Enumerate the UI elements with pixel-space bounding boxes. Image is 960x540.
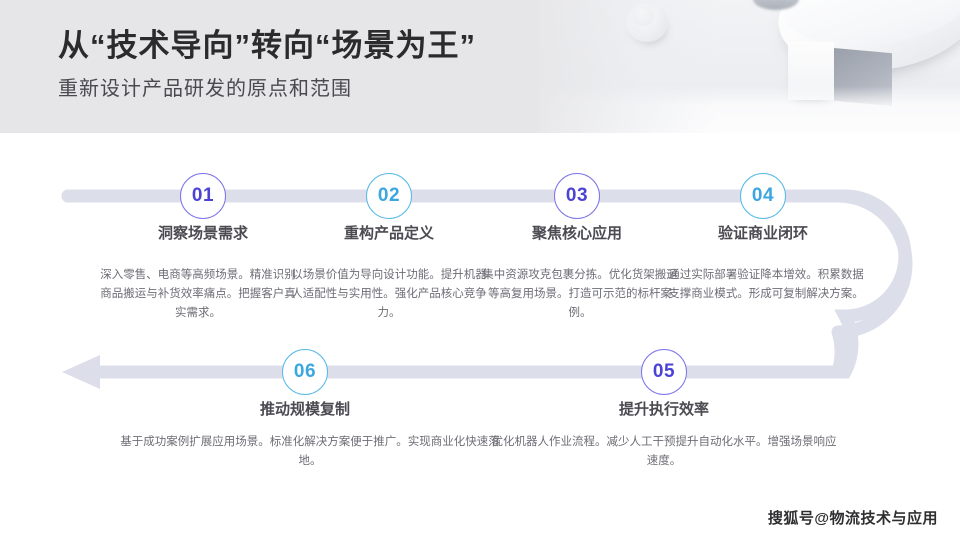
step-node-02[interactable]: 02 [366,173,412,219]
step-title-02: 重构产品定义 [291,222,487,243]
step-node-05[interactable]: 05 [641,349,687,395]
page-title: 从“技术导向”转向“场景为王” [58,20,476,65]
step-number-badge-04: 04 [740,173,786,219]
watermark-label: 搜狐号@物流技术与应用 [768,507,938,528]
step-node-04[interactable]: 04 [740,173,786,219]
step-number-badge-02: 02 [366,173,412,219]
header-gradient-fade [520,0,720,133]
step-number-badge-06: 06 [282,349,328,395]
header-band: 从“技术导向”转向“场景为王” 重新设计产品研发的原点和范围 [0,0,960,133]
page-subtitle: 重新设计产品研发的原点和范围 [58,72,352,101]
slide-canvas: 从“技术导向”转向“场景为王” 重新设计产品研发的原点和范围 01 洞察场景需求… [0,0,960,540]
step-node-03[interactable]: 03 [554,173,600,219]
timeline-track [0,133,960,540]
step-number-badge-01: 01 [180,173,226,219]
step-body-04: 通过实际部署验证降本增效。积累数据支撑商业模式。形成可复制解决方案。 [668,266,864,304]
step-title-03: 聚焦核心应用 [479,222,675,243]
step-body-05: 优化机器人作业流程。减少人工干预提升自动化水平。增强场景响应速度。 [489,433,839,471]
step-title-06: 推动规模复制 [195,398,415,419]
timeline-arrowhead-left-icon [62,355,100,389]
step-number-badge-03: 03 [554,173,600,219]
timeline-path-bottom [100,332,841,372]
step-title-01: 洞察场景需求 [105,222,301,243]
step-title-04: 验证商业闭环 [665,222,861,243]
step-node-06[interactable]: 06 [282,349,328,395]
step-number-badge-05: 05 [641,349,687,395]
step-body-02: 以场景价值为导向设计功能。提升机器人适配性与实用性。强化产品核心竞争力。 [291,266,487,323]
step-body-01: 深入零售、电商等高频场景。精准识别商品搬运与补货效率痛点。把握客户真实需求。 [100,266,296,323]
step-node-01[interactable]: 01 [180,173,226,219]
step-body-03: 集中资源攻克包裹分拣。优化货架搬运等高复用场景。打造可示范的标杆案例。 [482,266,678,323]
step-body-06: 基于成功案例扩展应用场景。标准化解决方案便于推广。实现商业化快速落地。 [120,433,500,471]
step-title-05: 提升执行效率 [554,398,774,419]
